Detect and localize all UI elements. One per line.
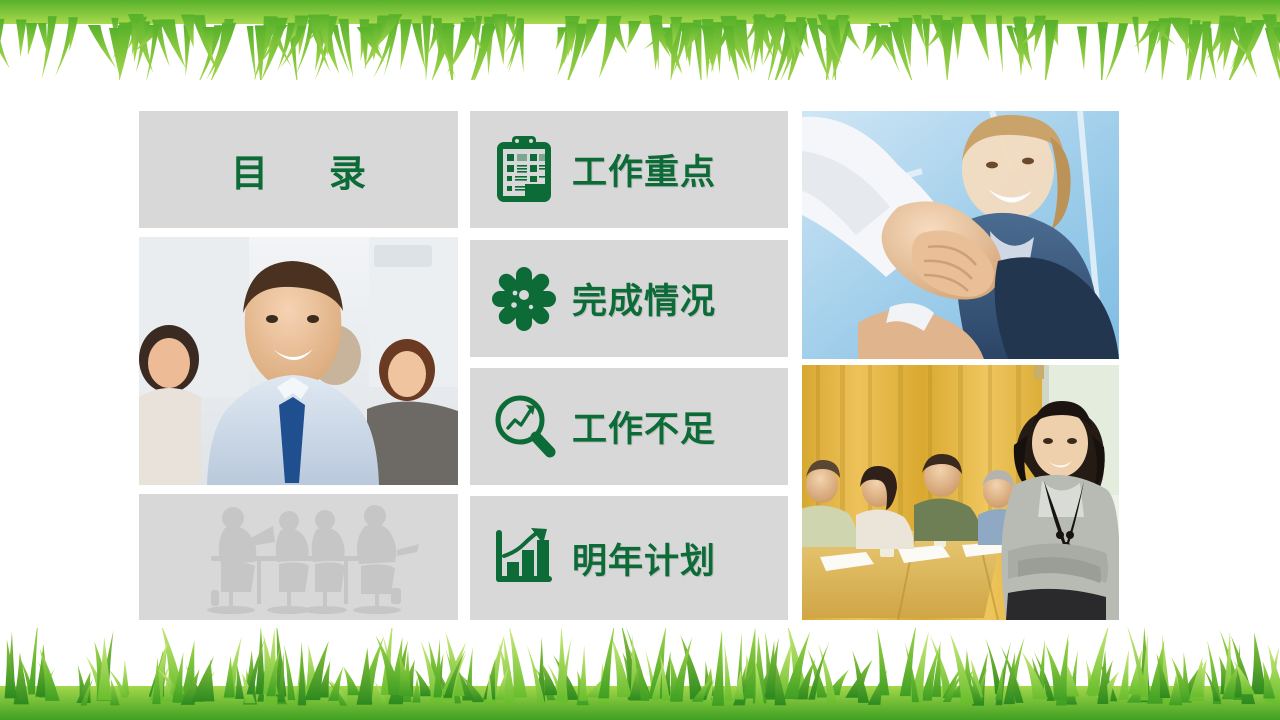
grass-border-bottom-icon — [0, 628, 1280, 720]
meeting-table-silhouette-icon — [139, 494, 458, 620]
menu-item-work-shortcomings[interactable]: 工作不足 — [470, 368, 788, 485]
menu-item-completion-status[interactable]: 完成情况 — [470, 240, 788, 357]
slide-canvas: 目 录 — [0, 0, 1280, 720]
menu-item-label: 明年计划 — [572, 533, 716, 584]
grass-border-top-icon — [0, 0, 1280, 80]
handshake-photo — [802, 111, 1119, 359]
business-meeting-photo — [802, 365, 1119, 620]
menu-item-label: 工作重点 — [572, 144, 716, 195]
menu-item-label: 工作不足 — [572, 401, 716, 452]
gear-sprocket-icon — [490, 263, 558, 335]
menu-item-next-year-plan[interactable]: 明年计划 — [470, 496, 788, 620]
page-title: 目 录 — [139, 111, 458, 228]
toc-title-panel: 目 录 — [139, 111, 458, 228]
menu-item-work-priorities[interactable]: 工作重点 — [470, 111, 788, 228]
magnifier-trendline-icon — [490, 391, 558, 463]
slide-content: 目 录 — [139, 111, 1119, 620]
clipboard-checklist-icon — [490, 134, 558, 206]
menu-item-label: 完成情况 — [572, 273, 716, 324]
meeting-silhouette-panel — [139, 494, 458, 620]
bar-chart-arrow-icon — [490, 522, 558, 594]
businessman-photo — [139, 237, 458, 485]
